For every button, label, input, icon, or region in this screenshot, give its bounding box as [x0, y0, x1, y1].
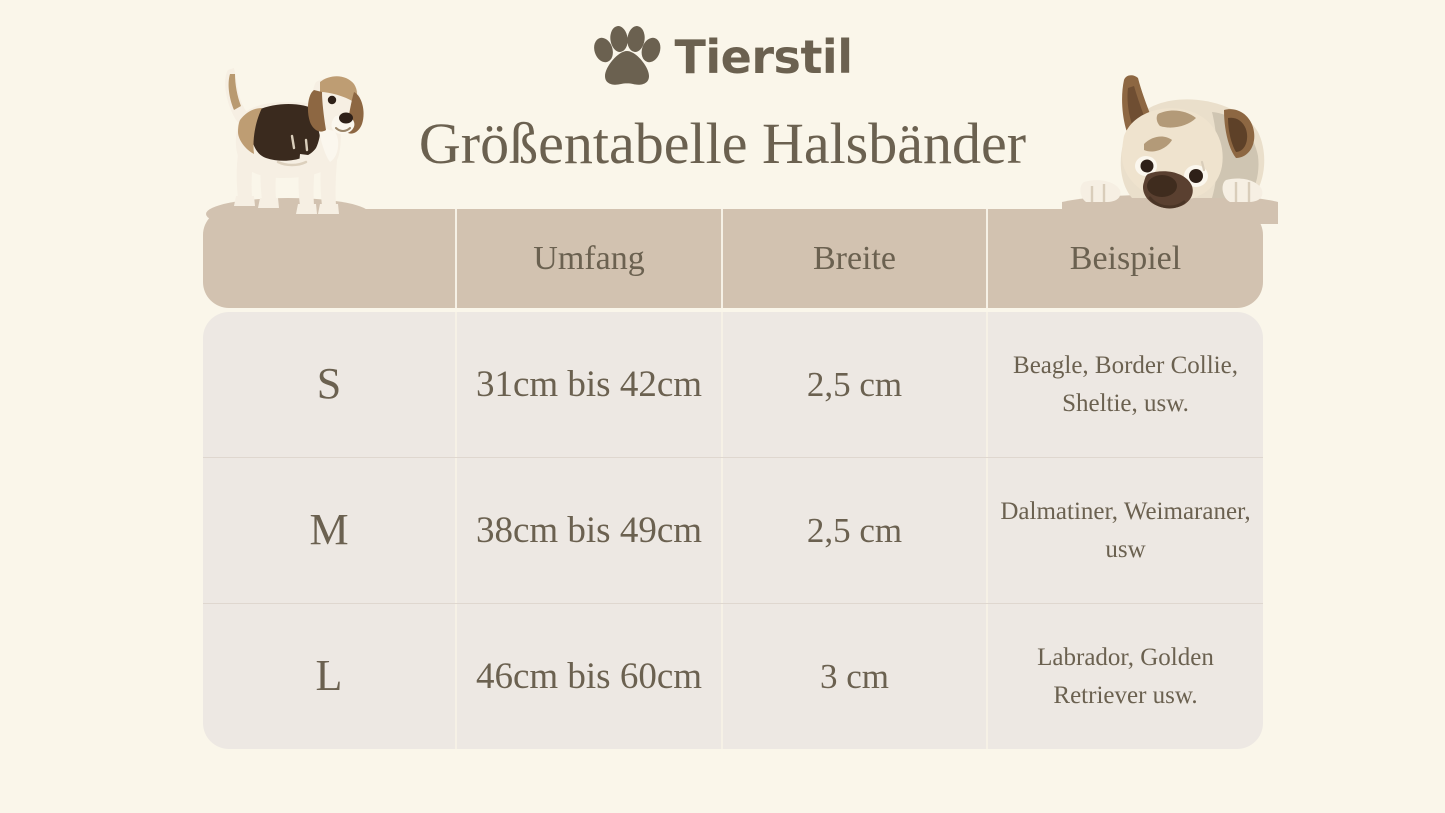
cell-breite: 2,5 cm — [723, 312, 988, 457]
umfang-value: 31cm bis 42cm — [476, 357, 702, 413]
beispiel-value: Dalmatiner, Weimaraner, usw — [998, 493, 1253, 568]
table-body: S 31cm bis 42cm 2,5 cm Beagle, Border Co… — [203, 312, 1263, 749]
cell-size: L — [203, 604, 457, 749]
cell-size: M — [203, 458, 457, 603]
brand-name: Tierstil — [675, 34, 853, 80]
size-table: Umfang Breite Beispiel S 31cm bis 42cm 2… — [203, 209, 1263, 749]
cell-size: S — [203, 312, 457, 457]
paw-icon — [593, 26, 661, 88]
cell-beispiel: Dalmatiner, Weimaraner, usw — [988, 458, 1263, 603]
breite-value: 3 cm — [820, 654, 889, 700]
umfang-value: 38cm bis 49cm — [476, 503, 702, 559]
cell-umfang: 31cm bis 42cm — [457, 312, 723, 457]
table-header-row: Umfang Breite Beispiel — [203, 209, 1263, 308]
size-chart-poster: Tierstil Größentabelle Halsbänder — [0, 0, 1445, 813]
table-row: M 38cm bis 49cm 2,5 cm Dalmatiner, Weima… — [203, 458, 1263, 604]
table-row: S 31cm bis 42cm 2,5 cm Beagle, Border Co… — [203, 312, 1263, 458]
cell-umfang: 46cm bis 60cm — [457, 604, 723, 749]
breite-value: 2,5 cm — [807, 508, 902, 554]
cell-beispiel: Labrador, Golden Retriever usw. — [988, 604, 1263, 749]
brand-header: Tierstil — [0, 26, 1445, 88]
table-row: L 46cm bis 60cm 3 cm Labrador, Golden Re… — [203, 604, 1263, 749]
cell-breite: 2,5 cm — [723, 458, 988, 603]
size-label: L — [316, 652, 343, 700]
beispiel-value: Labrador, Golden Retriever usw. — [998, 639, 1253, 714]
umfang-value: 46cm bis 60cm — [476, 649, 702, 705]
table-header-cell-size — [203, 209, 457, 308]
page-title: Größentabelle Halsbänder — [0, 112, 1445, 176]
breite-value: 2,5 cm — [807, 362, 902, 408]
table-header-cell-beispiel: Beispiel — [988, 209, 1263, 308]
table-header-cell-breite: Breite — [723, 209, 988, 308]
cell-beispiel: Beagle, Border Collie, Sheltie, usw. — [988, 312, 1263, 457]
cell-breite: 3 cm — [723, 604, 988, 749]
size-label: S — [317, 360, 341, 408]
cell-umfang: 38cm bis 49cm — [457, 458, 723, 603]
table-header-cell-umfang: Umfang — [457, 209, 723, 308]
beispiel-value: Beagle, Border Collie, Sheltie, usw. — [998, 347, 1253, 422]
size-label: M — [309, 506, 348, 554]
